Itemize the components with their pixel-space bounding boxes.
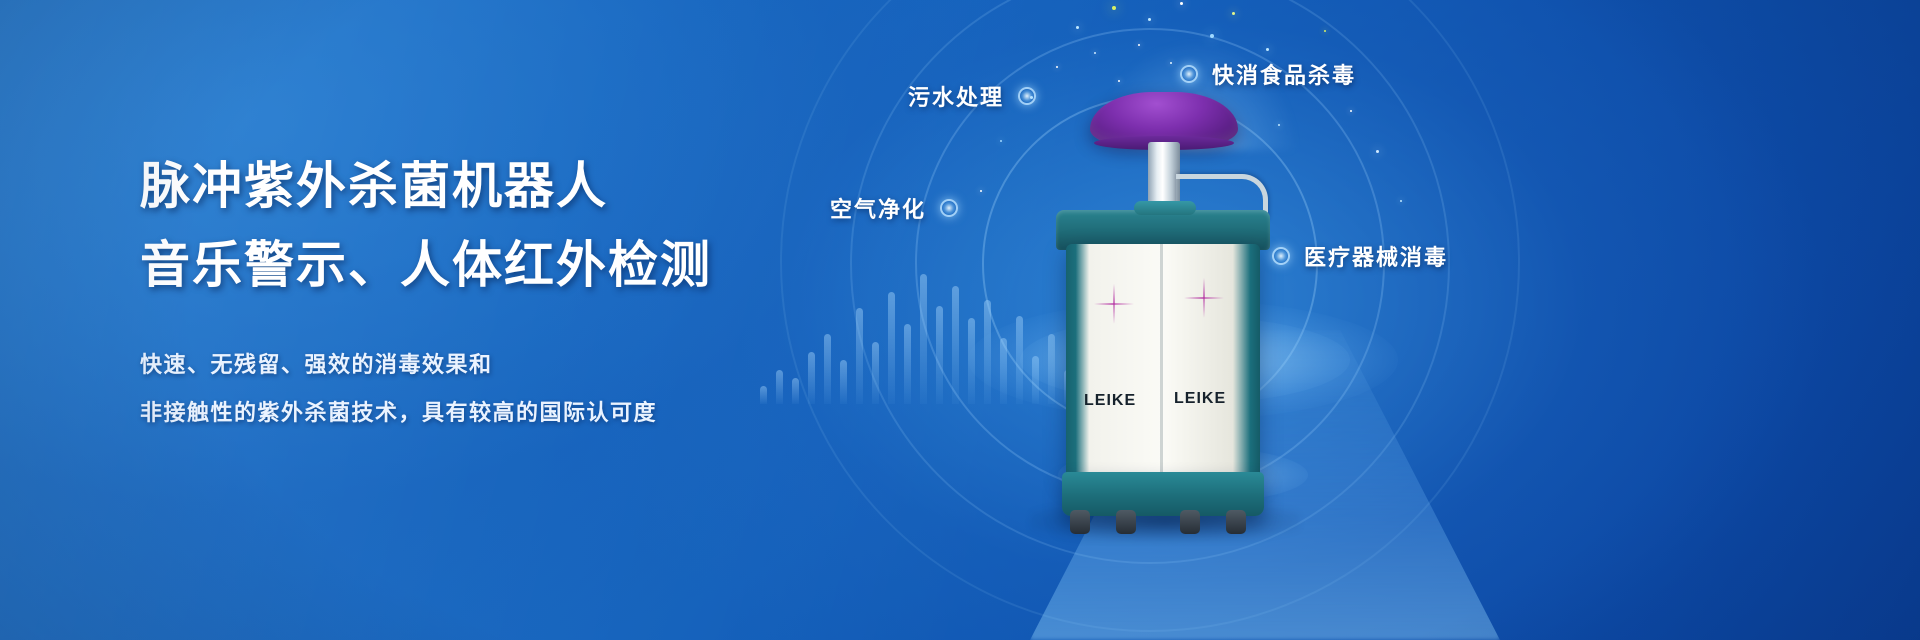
uv-disinfection-robot: LEIKE LEIKE — [1048, 92, 1278, 512]
feature-label: 快消食品杀毒 — [1212, 58, 1356, 90]
feature-label: 空气净化 — [830, 192, 926, 224]
node-dot-icon — [940, 199, 958, 217]
node-dot-icon — [1272, 247, 1290, 265]
caster-wheel — [1226, 510, 1246, 534]
caster-wheel — [1116, 510, 1136, 534]
sparkle-star-icon — [1094, 284, 1134, 324]
feature-callout-fmcg-food-sterilize[interactable]: 快消食品杀毒 — [1180, 58, 1356, 90]
brand-label-left: LEIKE — [1084, 392, 1136, 410]
feature-callout-waste-water[interactable]: 污水处理 — [908, 80, 1036, 112]
body-seam — [1160, 244, 1163, 478]
device-body-shell — [1066, 244, 1260, 478]
caster-wheel — [1070, 510, 1090, 534]
feature-label: 污水处理 — [908, 80, 1004, 112]
feature-callout-medical-device[interactable]: 医疗器械消毒 — [1272, 240, 1448, 272]
caster-wheel — [1180, 510, 1200, 534]
sparkle-star-icon — [1184, 278, 1224, 318]
feature-label: 医疗器械消毒 — [1304, 240, 1448, 272]
brand-label-right: LEIKE — [1174, 390, 1226, 408]
feature-callout-air-purification[interactable]: 空气净化 — [830, 192, 958, 224]
product-scene: LEIKE LEIKE 污水处理 快消食品杀毒 空气净化 医疗器械消毒 — [880, 0, 1920, 640]
node-dot-icon — [1018, 87, 1036, 105]
hero-banner: 脉冲紫外杀菌机器人 音乐警示、人体红外检测 快速、无残留、强效的消毒效果和 非接… — [0, 0, 1920, 640]
node-dot-icon — [1180, 65, 1198, 83]
